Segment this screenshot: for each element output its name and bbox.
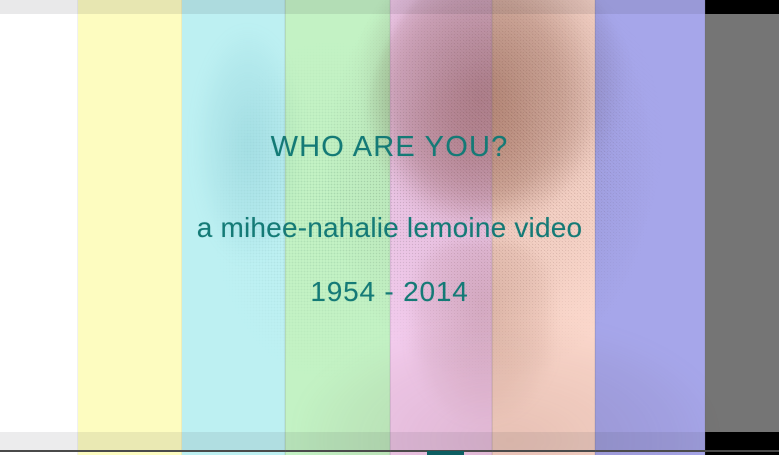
bar-seam: [492, 0, 493, 455]
bar-seam: [390, 0, 391, 455]
video-title-card: WHO ARE YOU? a mihee-nahalie lemoine vid…: [0, 0, 779, 455]
bar-seam: [285, 0, 286, 455]
bar-seam: [595, 0, 596, 455]
bar-seam: [705, 0, 706, 455]
